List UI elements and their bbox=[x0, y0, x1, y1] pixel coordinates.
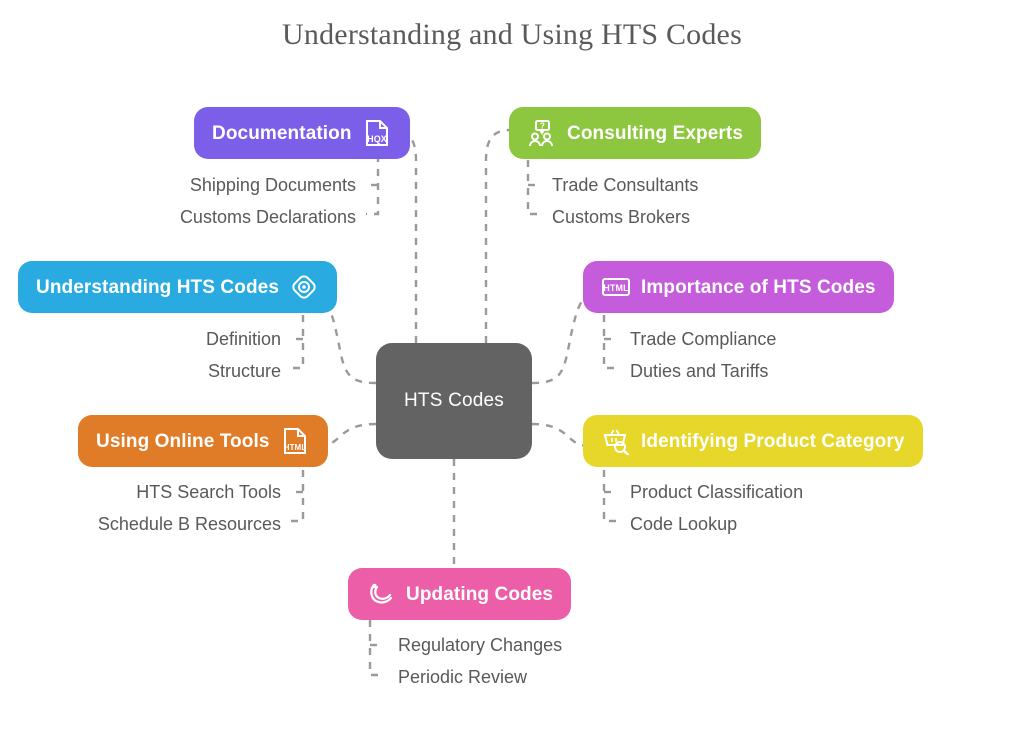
link-documentation-children bbox=[366, 155, 378, 214]
node-understanding-hts-codes-label: Understanding HTS Codes bbox=[36, 278, 279, 297]
subgroup-understanding-hts-codes: Definition Structure bbox=[60, 328, 281, 382]
node-documentation[interactable]: Documentation HQX bbox=[194, 107, 410, 159]
html-badge-icon: HTML bbox=[601, 272, 631, 302]
subitem-hts-search-tools: HTS Search Tools bbox=[136, 481, 281, 504]
link-online-tools-children bbox=[291, 470, 303, 521]
document-html-icon: HTML bbox=[280, 426, 310, 456]
subgroup-consulting-experts: Trade Consultants Customs Brokers bbox=[552, 174, 852, 228]
subitem-shipping-documents: Shipping Documents bbox=[190, 174, 356, 197]
node-understanding-hts-codes[interactable]: Understanding HTS Codes bbox=[18, 261, 337, 313]
link-consulting-experts bbox=[486, 130, 510, 343]
subitem-schedule-b-resources: Schedule B Resources bbox=[98, 513, 281, 536]
subitem-trade-consultants: Trade Consultants bbox=[552, 174, 698, 197]
svg-text:HTML: HTML bbox=[603, 283, 629, 293]
document-hqx-icon: HQX bbox=[362, 118, 392, 148]
subitem-code-lookup: Code Lookup bbox=[630, 513, 737, 536]
link-importance-of-hts-codes bbox=[532, 291, 592, 383]
subgroup-importance-of-hts-codes: Trade Compliance Duties and Tariffs bbox=[630, 328, 930, 382]
node-using-online-tools[interactable]: Using Online Tools HTML bbox=[78, 415, 328, 467]
subitem-definition: Definition bbox=[206, 328, 281, 351]
svg-text:HQX: HQX bbox=[367, 134, 387, 144]
page-title: Understanding and Using HTS Codes bbox=[0, 18, 1024, 52]
svg-text:?: ? bbox=[540, 122, 545, 131]
basket-search-icon bbox=[601, 426, 631, 456]
node-identifying-product-category[interactable]: Identifying Product Category bbox=[583, 415, 923, 467]
node-importance-of-hts-codes[interactable]: HTML Importance of HTS Codes bbox=[583, 261, 894, 313]
node-updating-codes[interactable]: Updating Codes bbox=[348, 568, 571, 620]
subitem-customs-declarations: Customs Declarations bbox=[180, 206, 356, 229]
subitem-regulatory-changes: Regulatory Changes bbox=[398, 634, 562, 657]
link-identifying-children bbox=[604, 470, 616, 521]
subgroup-documentation: Shipping Documents Customs Declarations bbox=[100, 174, 356, 228]
subgroup-using-online-tools: HTS Search Tools Schedule B Resources bbox=[20, 481, 281, 535]
subgroup-identifying-product-category: Product Classification Code Lookup bbox=[630, 481, 960, 535]
refresh-swirl-icon bbox=[366, 579, 396, 609]
subitem-trade-compliance: Trade Compliance bbox=[630, 328, 776, 351]
target-diamond-icon bbox=[289, 272, 319, 302]
node-importance-of-hts-codes-label: Importance of HTS Codes bbox=[641, 278, 876, 297]
node-using-online-tools-label: Using Online Tools bbox=[96, 432, 270, 451]
node-consulting-experts-label: Consulting Experts bbox=[567, 124, 743, 143]
node-consulting-experts[interactable]: ? Consulting Experts bbox=[509, 107, 761, 159]
link-updating-children bbox=[370, 620, 382, 675]
subitem-structure: Structure bbox=[208, 360, 281, 383]
subgroup-updating-codes: Regulatory Changes Periodic Review bbox=[398, 634, 718, 688]
svg-text:HTML: HTML bbox=[283, 443, 306, 452]
subitem-periodic-review: Periodic Review bbox=[398, 666, 527, 689]
subitem-duties-and-tariffs: Duties and Tariffs bbox=[630, 360, 768, 383]
node-documentation-label: Documentation bbox=[212, 124, 352, 143]
link-consulting-children bbox=[528, 160, 540, 214]
people-question-icon: ? bbox=[527, 118, 557, 148]
subitem-product-classification: Product Classification bbox=[630, 481, 803, 504]
center-node[interactable]: HTS Codes bbox=[376, 343, 532, 459]
center-node-label: HTS Codes bbox=[404, 390, 504, 412]
link-importance-children bbox=[604, 315, 616, 368]
link-documentation bbox=[392, 130, 416, 343]
node-identifying-product-category-label: Identifying Product Category bbox=[641, 432, 905, 451]
mindmap-canvas: Understanding and Using HTS Codes bbox=[0, 0, 1024, 732]
subitem-customs-brokers: Customs Brokers bbox=[552, 206, 690, 229]
node-updating-codes-label: Updating Codes bbox=[406, 585, 553, 604]
link-understanding-children bbox=[291, 315, 303, 368]
